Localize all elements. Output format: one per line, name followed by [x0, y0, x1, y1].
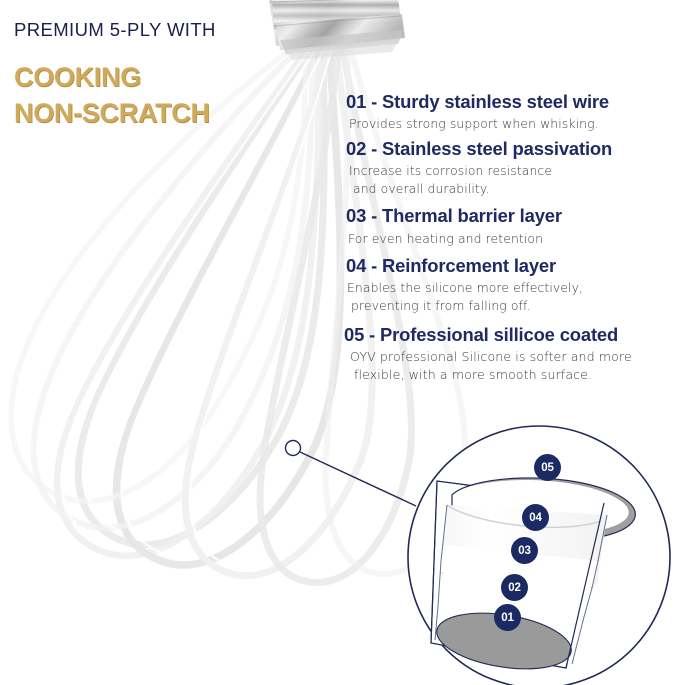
feature-title-04: 04 - Reinforcement layer — [346, 252, 679, 279]
feature-list: 01 - Sturdy stainless steel wire Provide… — [346, 88, 679, 386]
feature-desc-03-line1: For even heating and retention — [348, 231, 543, 246]
layer-badge-01: 01 — [494, 604, 521, 631]
headline-non-scratch: NON-SCRATCH — [14, 96, 344, 132]
feature-desc-01: Provides strong support when whisking. — [346, 115, 679, 133]
headline-premium: PREMIUM 5-PLY WITH — [14, 20, 344, 40]
callout-pointer — [286, 441, 417, 507]
feature-desc-05: OYV professional Silicone is softer and … — [346, 348, 679, 384]
layer-badge-04: 04 — [522, 504, 549, 531]
feature-desc-04: Enables the silicone more effectively, p… — [346, 279, 679, 314]
feature-desc-02: Increase its corrosion resistance and ov… — [346, 162, 679, 197]
feature-desc-04-line1: Enables the silicone more effectively, — [347, 280, 583, 295]
feature-item-04: 04 - Reinforcement layer Enables the sil… — [346, 252, 679, 314]
feature-title-05: 05 - Professional sillicoe coated — [344, 321, 679, 348]
headline-block: PREMIUM 5-PLY WITH COOKING NON-SCRATCH — [14, 20, 344, 132]
feature-desc-03: For even heating and retention — [346, 230, 679, 248]
layer-badge-03: 03 — [511, 537, 538, 564]
feature-title-02: 02 - Stainless steel passivation — [346, 135, 679, 162]
feature-item-05: 05 - Professional sillicoe coated OYV pr… — [346, 321, 679, 384]
feature-desc-02-line1: Increase its corrosion resistance — [349, 163, 552, 178]
feature-desc-05-line1: OYV professional Silicone is softer and … — [350, 349, 632, 364]
feature-desc-05-line2: flexible, with a more smooth surface. — [350, 366, 679, 384]
feature-item-03: 03 - Thermal barrier layer For even heat… — [346, 202, 679, 247]
infographic-page: PREMIUM 5-PLY WITH COOKING NON-SCRATCH 0… — [0, 0, 679, 685]
feature-item-01: 01 - Sturdy stainless steel wire Provide… — [346, 88, 679, 133]
feature-desc-02-line2: and overall durability. — [349, 180, 679, 198]
feature-title-03: 03 - Thermal barrier layer — [346, 202, 679, 229]
layer-badge-02: 02 — [501, 574, 528, 601]
feature-desc-04-line2: preventing it from falling off. — [347, 297, 679, 315]
feature-title-01: 01 - Sturdy stainless steel wire — [346, 88, 679, 115]
feature-desc-01-line1: Provides strong support when whisking. — [349, 116, 599, 131]
layer-badge-05: 05 — [534, 454, 561, 481]
headline-cooking: COOKING — [14, 60, 344, 96]
feature-item-02: 02 - Stainless steel passivation Increas… — [346, 135, 679, 197]
